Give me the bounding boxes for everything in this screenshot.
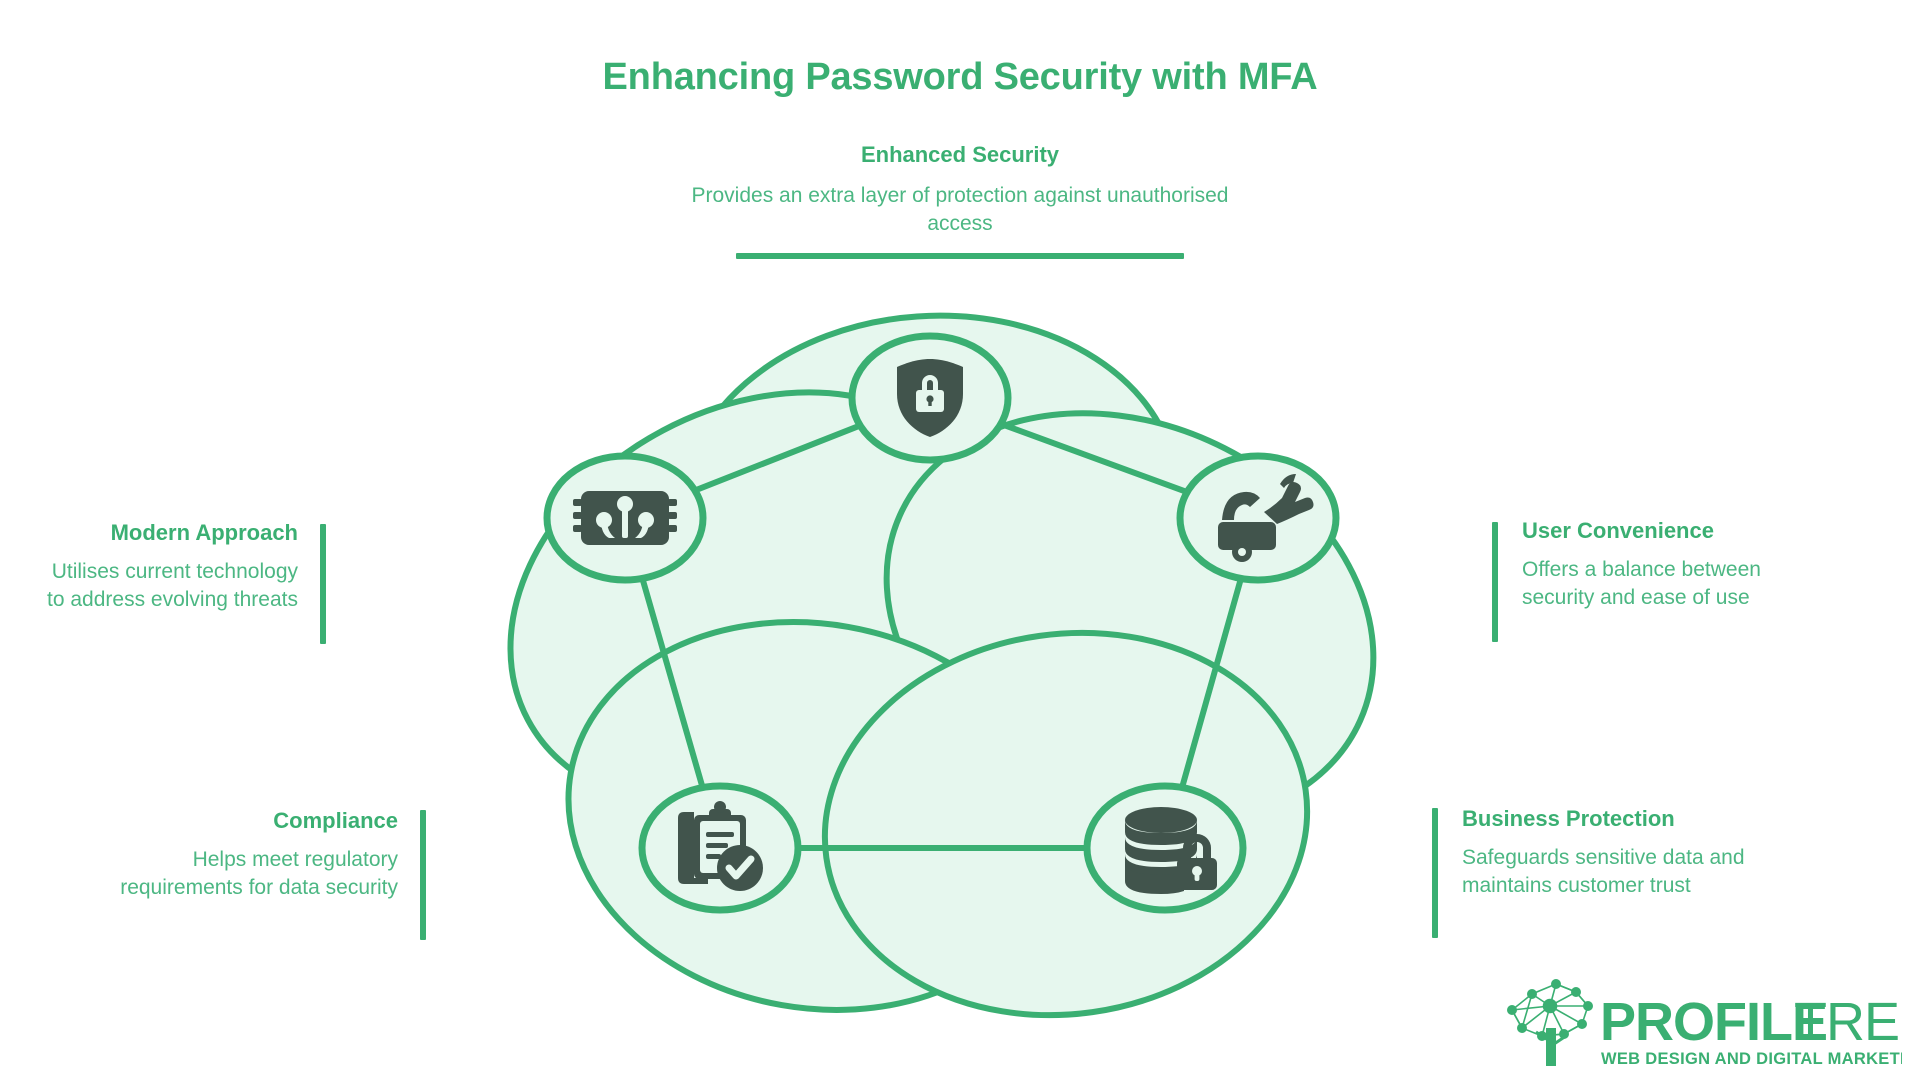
callout-description-compliance: Helps meet regulatory requirements for d… <box>120 846 398 901</box>
icon-circle-user-convenience <box>1180 456 1336 580</box>
tree-network-icon <box>1508 980 1592 1066</box>
logo-name-light: TREE <box>1794 992 1902 1052</box>
infographic-canvas: Enhancing Password Security with MFA Enh… <box>0 0 1920 1080</box>
callout-user-convenience: User Convenience Offers a balance betwee… <box>1492 518 1818 642</box>
callout-description-modern-approach: Utilises current technology to address e… <box>40 558 298 613</box>
callout-accent-bar-modern-approach <box>320 524 326 644</box>
callout-title-business-protection: Business Protection <box>1462 806 1675 832</box>
callout-accent-bar-compliance <box>420 810 426 940</box>
callout-title-compliance: Compliance <box>273 808 398 834</box>
callout-title-user-convenience: User Convenience <box>1522 518 1714 544</box>
profiletree-logo[interactable]: PROFILE TREE WEB DESIGN AND DIGITAL MARK… <box>1498 972 1902 1072</box>
callout-description-enhanced-security: Provides an extra layer of protection ag… <box>660 182 1260 237</box>
callout-modern-approach: Modern Approach Utilises current technol… <box>40 520 326 644</box>
callout-description-user-convenience: Offers a balance between security and ea… <box>1522 556 1818 611</box>
icon-node-business-protection <box>1087 786 1243 910</box>
callout-title-enhanced-security: Enhanced Security <box>660 142 1260 168</box>
callout-compliance: Compliance Helps meet regulatory require… <box>120 808 426 940</box>
callout-enhanced-security: Enhanced Security Provides an extra laye… <box>660 142 1260 259</box>
page-title: Enhancing Password Security with MFA <box>0 56 1920 99</box>
microchip-icon <box>573 491 677 545</box>
icon-node-enhanced-security <box>852 336 1008 460</box>
icon-node-user-convenience <box>1180 456 1336 580</box>
venn-diagram <box>430 300 1490 1060</box>
callout-title-modern-approach: Modern Approach <box>111 520 298 546</box>
icon-node-compliance <box>642 786 798 910</box>
logo-tagline: WEB DESIGN AND DIGITAL MARKETING <box>1601 1050 1902 1068</box>
icon-node-modern-approach <box>547 456 703 580</box>
logo-name-bold: PROFILE <box>1600 992 1827 1052</box>
callout-accent-bar-enhanced-security <box>736 253 1184 259</box>
callout-description-business-protection: Safeguards sensitive data and maintains … <box>1462 844 1758 899</box>
